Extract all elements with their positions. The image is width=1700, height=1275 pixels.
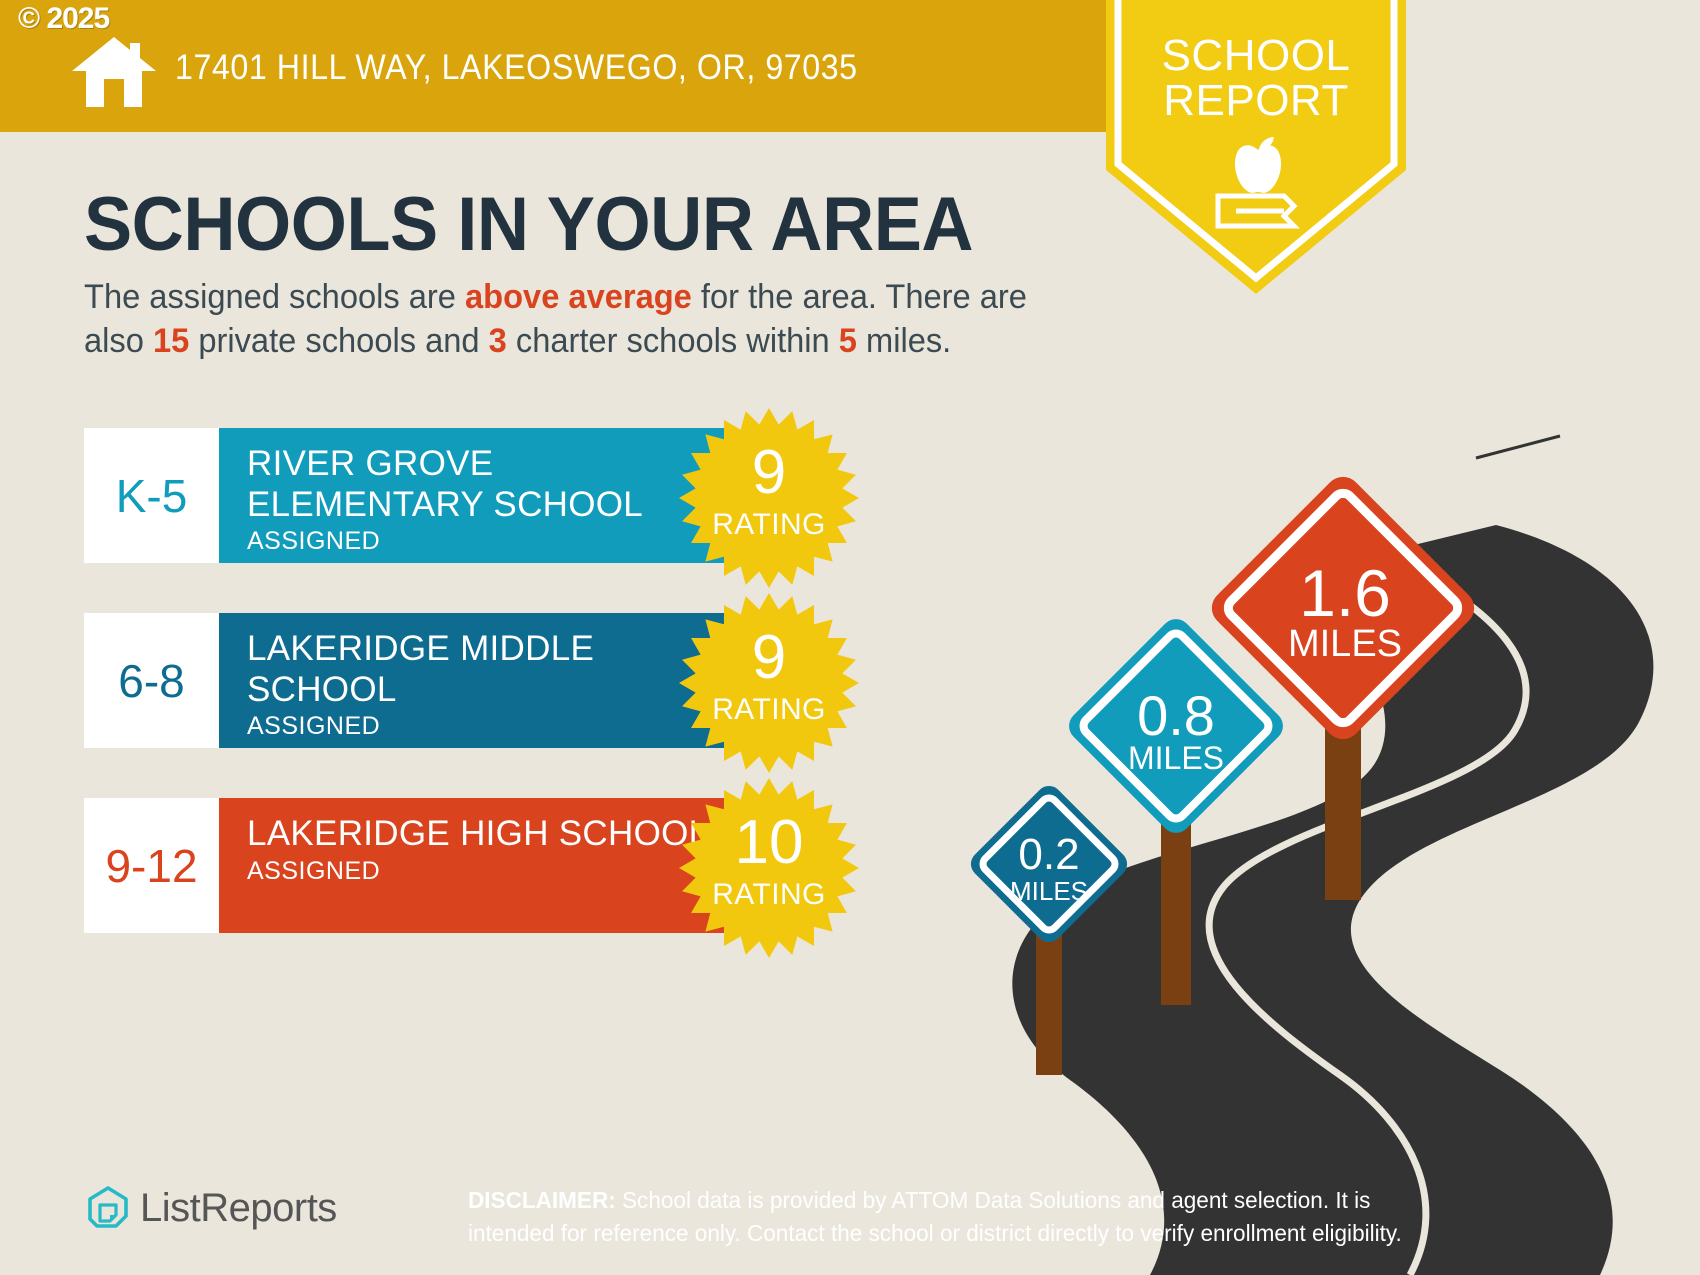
summary-charter-count: 3 xyxy=(489,322,507,360)
listreports-logo-icon xyxy=(86,1185,130,1229)
copyright-label: © 2025 xyxy=(18,2,109,36)
grade-range-label: K-5 xyxy=(116,469,188,523)
school-name: LAKERIDGE HIGH SCHOOL xyxy=(247,814,734,855)
apple-and-book-icon xyxy=(1212,134,1304,234)
badge-line-1: SCHOOL xyxy=(1106,34,1406,79)
disclaimer-label: DISCLAIMER: xyxy=(468,1187,616,1213)
school-info-bar: RIVER GROVE ELEMENTARY SCHOOL ASSIGNED xyxy=(219,428,734,563)
rating-starburst-badge: 9 RATING xyxy=(679,593,859,773)
rating-starburst-badge: 9 RATING xyxy=(679,408,859,588)
distance-illustration: 0.2 MILES 0.8 MILES xyxy=(940,430,1700,1275)
grade-range-box: K-5 xyxy=(84,428,219,563)
summary-part-5: miles. xyxy=(857,322,951,360)
rating-value: 10 xyxy=(679,812,859,874)
rating-value: 9 xyxy=(679,627,859,689)
badge-title: SCHOOL REPORT xyxy=(1106,34,1406,124)
school-list: K-5 RIVER GROVE ELEMENTARY SCHOOL ASSIGN… xyxy=(84,428,734,983)
horizon-line xyxy=(1476,436,1560,458)
brand-name: ListReports xyxy=(140,1186,337,1231)
page-title: SCHOOLS IN YOUR AREA xyxy=(84,181,973,268)
book-icon xyxy=(1218,196,1294,226)
distance-sign[interactable]: 1.6 MILES xyxy=(1195,460,1495,905)
school-row[interactable]: 6-8 LAKERIDGE MIDDLE SCHOOL ASSIGNED 9 R… xyxy=(84,613,734,748)
rating-label: RATING xyxy=(679,693,859,727)
summary-private-count: 15 xyxy=(153,322,189,360)
home-icon xyxy=(70,35,158,107)
property-address: 17401 HILL WAY, LAKEOSWEGO, OR, 97035 xyxy=(175,48,858,88)
school-status: ASSIGNED xyxy=(247,527,734,556)
school-info-bar: LAKERIDGE HIGH SCHOOL ASSIGNED xyxy=(219,798,734,933)
school-name: LAKERIDGE MIDDLE SCHOOL xyxy=(247,629,734,710)
sign-distance-value: 1.6 xyxy=(1195,555,1495,631)
sign-distance-unit: MILES xyxy=(1195,623,1495,666)
badge-line-2: REPORT xyxy=(1106,79,1406,124)
summary-highlight-rating: above average xyxy=(465,278,692,316)
summary-text: The assigned schools are above average f… xyxy=(84,276,1054,363)
school-name: RIVER GROVE ELEMENTARY SCHOOL xyxy=(247,444,734,525)
rating-value: 9 xyxy=(679,442,859,504)
rating-label: RATING xyxy=(679,878,859,912)
grade-range-label: 6-8 xyxy=(118,654,184,708)
address-header-bar: © 2025 17401 HILL WAY, LAKEOSWEGO, OR, 9… xyxy=(0,0,1180,132)
school-info-bar: LAKERIDGE MIDDLE SCHOOL ASSIGNED xyxy=(219,613,734,748)
school-report-badge: SCHOOL REPORT xyxy=(1106,0,1406,300)
grade-range-label: 9-12 xyxy=(105,839,197,893)
summary-radius-miles: 5 xyxy=(839,322,857,360)
disclaimer-text: DISCLAIMER: School data is provided by A… xyxy=(468,1184,1458,1249)
rating-label: RATING xyxy=(679,508,859,542)
school-status: ASSIGNED xyxy=(247,857,734,886)
grade-range-box: 9-12 xyxy=(84,798,219,933)
apple-icon xyxy=(1235,137,1281,193)
school-status: ASSIGNED xyxy=(247,712,734,741)
grade-range-box: 6-8 xyxy=(84,613,219,748)
infographic-canvas: © 2025 17401 HILL WAY, LAKEOSWEGO, OR, 9… xyxy=(0,0,1700,1275)
school-row[interactable]: 9-12 LAKERIDGE HIGH SCHOOL ASSIGNED 10 R… xyxy=(84,798,734,933)
school-row[interactable]: K-5 RIVER GROVE ELEMENTARY SCHOOL ASSIGN… xyxy=(84,428,734,563)
rating-starburst-badge: 10 RATING xyxy=(679,778,859,958)
summary-part-4: charter schools within xyxy=(507,322,839,360)
sign-post-and-plate xyxy=(1195,460,1495,900)
summary-part-3: private schools and xyxy=(189,322,488,360)
summary-part-1: The assigned schools are xyxy=(84,278,465,316)
